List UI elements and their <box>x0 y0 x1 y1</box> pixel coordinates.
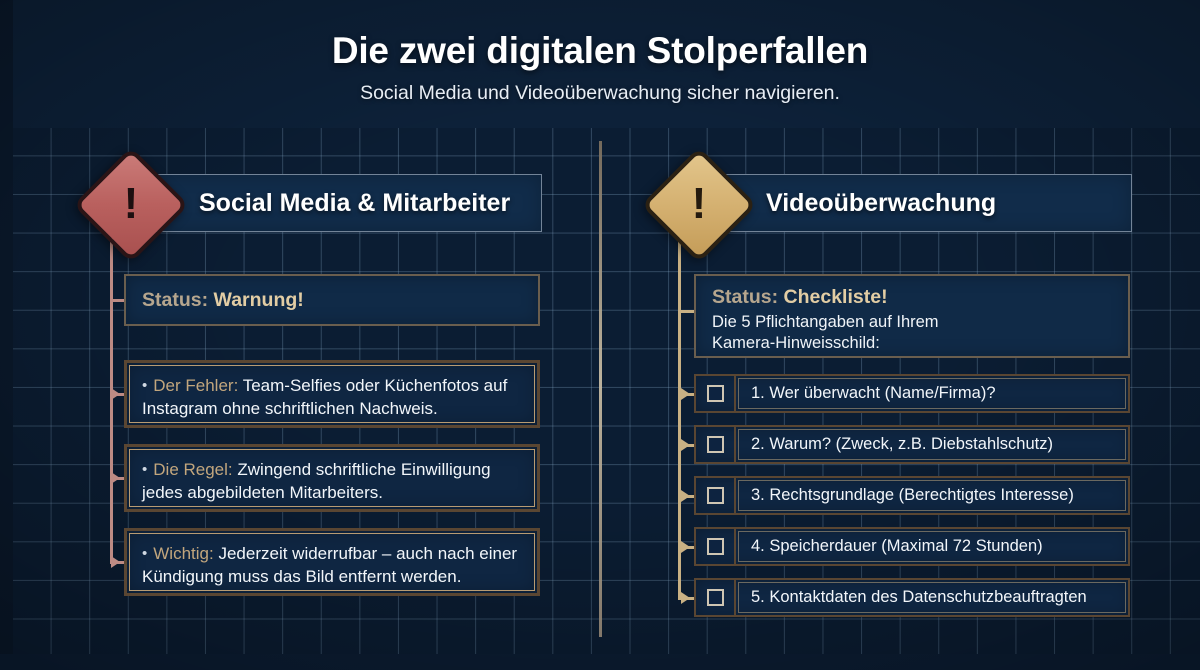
checklist-item[interactable]: 3. Rechtsgrundlage (Berechtigtes Interes… <box>694 476 1130 515</box>
checkbox-unchecked-icon[interactable] <box>707 589 724 606</box>
status-subtext: Die 5 Pflichtangaben auf Ihrem Kamera-Hi… <box>696 308 1128 356</box>
checklist-item-label: 5. Kontaktdaten des Datenschutzbeauftrag… <box>738 582 1126 613</box>
checklist-item-label: 3. Rechtsgrundlage (Berechtigtes Interes… <box>738 480 1126 511</box>
section-title-videoueberwachung: Videoüberwachung <box>766 189 996 218</box>
checkbox-cell[interactable] <box>696 478 736 513</box>
checklist-item[interactable]: 5. Kontaktdaten des Datenschutzbeauftrag… <box>694 578 1130 617</box>
checkbox-cell[interactable] <box>696 427 736 462</box>
connector-arrow-row-4 <box>681 541 690 553</box>
status-badge: Checkliste! <box>784 286 888 308</box>
status-subtext-line-2: Kamera-Hinweisschild: <box>712 333 1128 355</box>
checkbox-unchecked-icon[interactable] <box>707 385 724 402</box>
checklist-item-label: 1. Wer überwacht (Name/Firma)? <box>738 378 1126 409</box>
status-label: Status: <box>712 286 778 308</box>
checklist-item-label: 2. Warum? (Zweck, z.B. Diebstahlschutz) <box>738 429 1126 460</box>
checkbox-cell[interactable] <box>696 529 736 564</box>
section-header-videoueberwachung: Videoüberwachung <box>700 174 1132 232</box>
connector-arrow-row-5 <box>681 592 690 604</box>
status-box-videoueberwachung: Status: Checkliste! Die 5 Pflichtangaben… <box>694 274 1130 358</box>
checkbox-cell[interactable] <box>696 580 736 615</box>
status-line: Status: Checkliste! <box>696 276 1128 308</box>
checklist-item[interactable]: 1. Wer überwacht (Name/Firma)? <box>694 374 1130 413</box>
connector-arrow-row-2 <box>681 439 690 451</box>
status-subtext-line-1: Die 5 Pflichtangaben auf Ihrem <box>712 312 1128 334</box>
connector-arrow-row-3 <box>681 490 690 502</box>
exclamation-glyph: ! <box>662 168 736 242</box>
connector-arrow-row-1 <box>681 388 690 400</box>
infographic-slide: Die zwei digitalen Stolperfallen Social … <box>0 0 1200 670</box>
checkbox-unchecked-icon[interactable] <box>707 436 724 453</box>
checklist-item-label: 4. Speicherdauer (Maximal 72 Stunden) <box>738 531 1126 562</box>
column-videoueberwachung: Videoüberwachung ! Status: Checkliste! D… <box>0 0 1200 670</box>
checkbox-cell[interactable] <box>696 376 736 411</box>
checklist-item[interactable]: 2. Warum? (Zweck, z.B. Diebstahlschutz) <box>694 425 1130 464</box>
connector-branch-status-right <box>678 310 694 313</box>
checklist-item[interactable]: 4. Speicherdauer (Maximal 72 Stunden) <box>694 527 1130 566</box>
checkbox-unchecked-icon[interactable] <box>707 487 724 504</box>
warning-diamond-icon-gold: ! <box>641 147 757 263</box>
checkbox-unchecked-icon[interactable] <box>707 538 724 555</box>
